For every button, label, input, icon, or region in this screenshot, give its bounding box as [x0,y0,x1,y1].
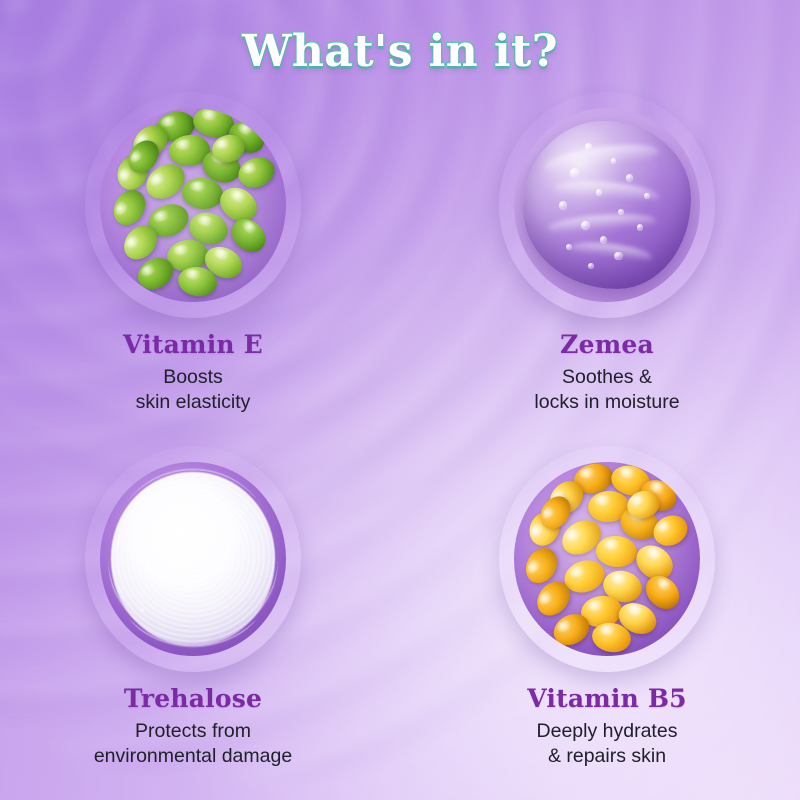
ingredient-description: Boosts skin elasticity [28,365,358,415]
ingredient-caption: Zemea Soothes & locks in moisture [442,330,772,415]
ingredient-image-zemea [442,92,772,324]
ingredient-description-line-1: Protects from [28,719,358,744]
ingredient-caption: Vitamin B5 Deeply hydrates & repairs ski… [442,684,772,769]
ingredient-description-line-2: & repairs skin [442,744,772,769]
ingredient-card-zemea: Zemea Soothes & locks in moisture [442,92,772,415]
ingredient-card-vitamin-e: Vitamin E Boosts skin elasticity [28,92,358,415]
dish-rim-highlight [499,446,715,672]
ingredient-description-line-2: environmental damage [28,744,358,769]
dish-rim-highlight [85,92,301,318]
ingredient-infographic: What's in it? [0,0,800,800]
ingredient-description-line-1: Soothes & [442,365,772,390]
ingredient-image-trehalose [28,446,358,678]
dish-rim-highlight [499,92,715,318]
ingredient-caption: Trehalose Protects from environmental da… [28,684,358,769]
page-title: What's in it? [242,26,558,77]
petri-dish [499,92,715,318]
ingredient-description-line-2: skin elasticity [28,390,358,415]
ingredient-caption: Vitamin E Boosts skin elasticity [28,330,358,415]
ingredient-name: Zemea [442,330,772,359]
ingredient-description: Protects from environmental damage [28,719,358,769]
petri-dish [85,446,301,672]
petri-dish [85,92,301,318]
ingredient-name: Trehalose [28,684,358,713]
ingredient-description-line-1: Boosts [28,365,358,390]
ingredient-description-line-1: Deeply hydrates [442,719,772,744]
title-block: What's in it? [0,26,800,77]
ingredient-description: Deeply hydrates & repairs skin [442,719,772,769]
petri-dish [499,446,715,672]
ingredient-name: Vitamin E [28,330,358,359]
ingredient-image-vitamin-b5 [442,446,772,678]
ingredient-description: Soothes & locks in moisture [442,365,772,415]
ingredient-image-vitamin-e [28,92,358,324]
ingredient-card-trehalose: Trehalose Protects from environmental da… [28,446,358,769]
ingredient-name: Vitamin B5 [442,684,772,713]
ingredient-card-vitamin-b5: Vitamin B5 Deeply hydrates & repairs ski… [442,446,772,769]
dish-rim-highlight [85,446,301,672]
ingredient-description-line-2: locks in moisture [442,390,772,415]
